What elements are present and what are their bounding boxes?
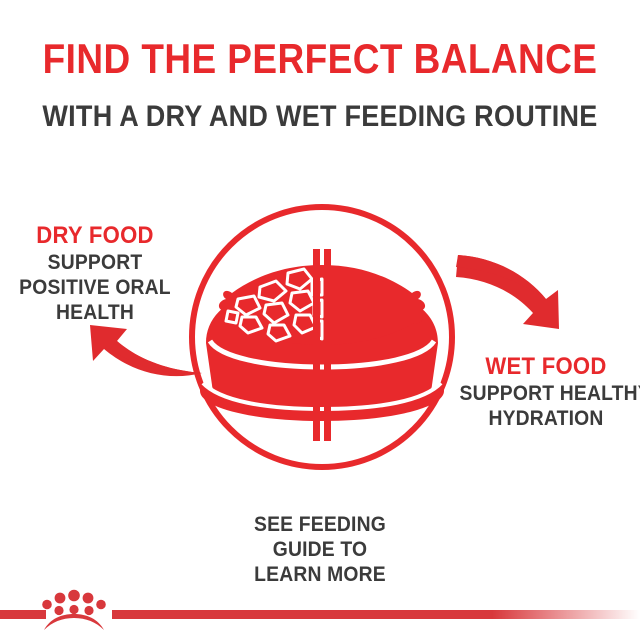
page-subtitle: WITH A DRY AND WET FEEDING ROUTINE [32,100,608,134]
wet-food-block: WET FOOD SUPPORT HEALTHY HYDRATION [452,353,640,431]
caption-line-2: GUIDE TO [191,537,449,562]
infographic-page: FIND THE PERFECT BALANCE WITH A DRY AND … [0,0,640,640]
wet-food-title: WET FOOD [460,353,633,381]
curved-arrow-down-right-icon [456,255,559,329]
wet-food-line-2: HYDRATION [460,406,633,431]
dry-food-block: DRY FOOD SUPPORT POSITIVE ORAL HEALTH [0,222,190,325]
dry-food-line-1: SUPPORT [8,250,183,275]
dry-food-title: DRY FOOD [8,222,183,250]
page-title: FIND THE PERFECT BALANCE [38,36,601,82]
royal-canin-crown-icon [36,586,112,634]
dry-food-line-2: POSITIVE ORAL [8,275,183,300]
footer-rule-right [112,610,640,619]
dry-food-line-3: HEALTH [8,300,183,325]
split-pet-food-bowl-icon [200,249,444,441]
curved-arrow-up-left-icon [90,325,202,376]
feeding-guide-caption: SEE FEEDING GUIDE TO LEARN MORE [180,512,460,587]
caption-line-1: SEE FEEDING [191,512,449,537]
wet-food-line-1: SUPPORT HEALTHY [460,381,633,406]
